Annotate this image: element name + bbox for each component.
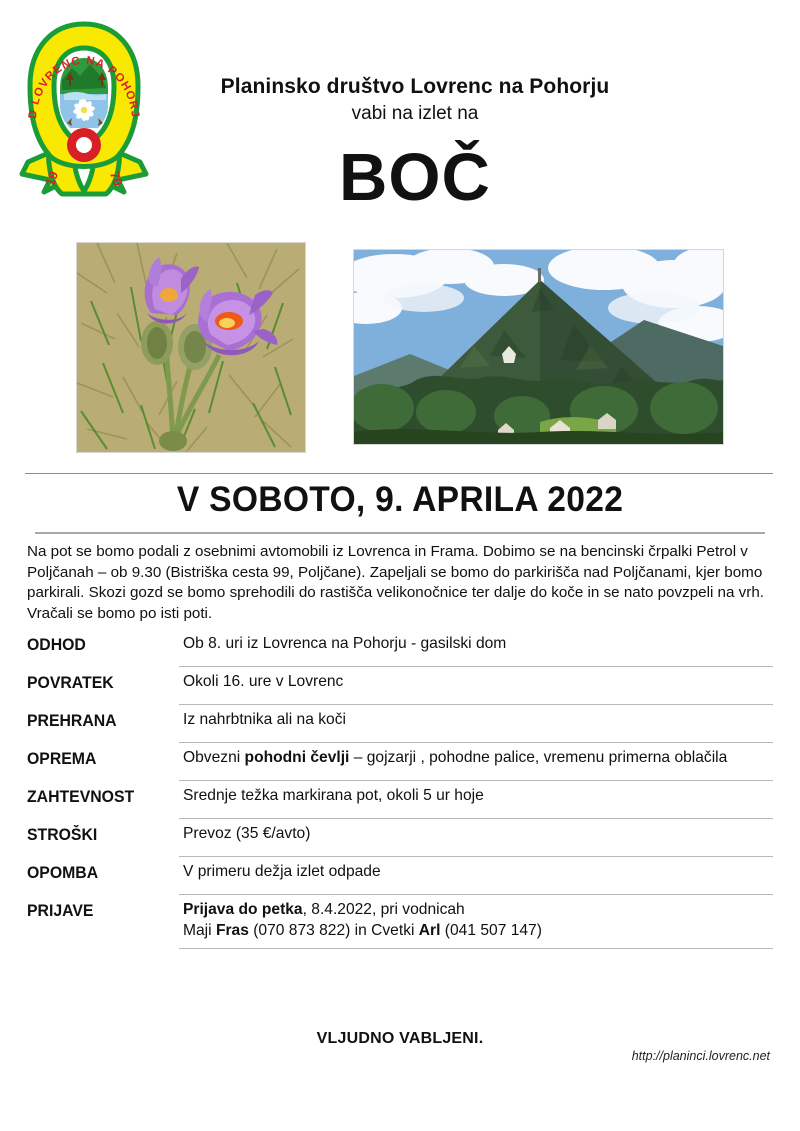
title-block: Planinsko društvo Lovrenc na Pohorju vab… xyxy=(155,74,675,211)
detail-label: POVRATEK xyxy=(27,667,168,693)
detail-value: Prevoz (35 €/avto) xyxy=(179,819,773,857)
detail-label: STROŠKI xyxy=(27,819,168,845)
detail-row: PRIJAVEPrijava do petka, 8.4.2022, pri v… xyxy=(27,895,773,949)
detail-row: STROŠKIPrevoz (35 €/avto) xyxy=(27,819,773,857)
pasque-flowers-photo xyxy=(76,242,306,453)
detail-value: Iz nahrbtnika ali na koči xyxy=(179,705,773,743)
boc-mountain-photo xyxy=(353,249,724,445)
detail-value: Ob 8. uri iz Lovrenca na Pohorju - gasil… xyxy=(179,629,773,667)
detail-row: OPREMAObvezni pohodni čevlji – gojzarji … xyxy=(27,743,773,781)
detail-label: OPREMA xyxy=(27,743,168,769)
detail-label: OPOMBA xyxy=(27,857,168,883)
poster-header: PD LOVRENC NA POHORJU 19 70 Planinsko dr… xyxy=(0,0,800,230)
detail-row: OPOMBAV primeru dežja izlet odpade xyxy=(27,857,773,895)
detail-value: Okoli 16. ure v Lovrenc xyxy=(179,667,773,705)
detail-label: PREHRANA xyxy=(27,705,168,731)
details-table: ODHODOb 8. uri iz Lovrenca na Pohorju - … xyxy=(27,629,773,949)
destination-title: BOČ xyxy=(155,144,675,211)
organization-name: Planinsko društvo Lovrenc na Pohorju xyxy=(155,74,675,100)
website-url: http://planinci.lovrenc.net xyxy=(632,1049,770,1063)
intro-paragraph: Na pot se bomo podali z osebnimi avtomob… xyxy=(27,542,769,624)
divider-top xyxy=(25,473,773,474)
photo-strip xyxy=(0,240,800,455)
detail-row: ODHODOb 8. uri iz Lovrenca na Pohorju - … xyxy=(27,629,773,667)
divider-bottom xyxy=(35,532,765,534)
detail-value: Srednje težka markirana pot, okoli 5 ur … xyxy=(179,781,773,819)
detail-label: ZAHTEVNOST xyxy=(27,781,168,807)
poster-page: PD LOVRENC NA POHORJU 19 70 Planinsko dr… xyxy=(0,0,800,1131)
date-heading: V SOBOTO, 9. APRILA 2022 xyxy=(16,480,784,520)
detail-value: Prijava do petka, 8.4.2022, pri vodnicah… xyxy=(179,895,773,949)
detail-label: PRIJAVE xyxy=(27,895,168,921)
detail-row: ZAHTEVNOSTSrednje težka markirana pot, o… xyxy=(27,781,773,819)
detail-row: PREHRANAIz nahrbtnika ali na koči xyxy=(27,705,773,743)
club-logo: PD LOVRENC NA POHORJU 19 70 xyxy=(16,14,152,214)
closing-line: VLJUDNO VABLJENI. xyxy=(0,1030,800,1048)
invitation-line: vabi na izlet na xyxy=(155,102,675,127)
detail-value: Obvezni pohodni čevlji – gojzarji , poho… xyxy=(179,743,773,781)
logo-red-ring xyxy=(67,128,101,162)
detail-label: ODHOD xyxy=(27,629,168,655)
detail-value: V primeru dežja izlet odpade xyxy=(179,857,773,895)
detail-row: POVRATEKOkoli 16. ure v Lovrenc xyxy=(27,667,773,705)
